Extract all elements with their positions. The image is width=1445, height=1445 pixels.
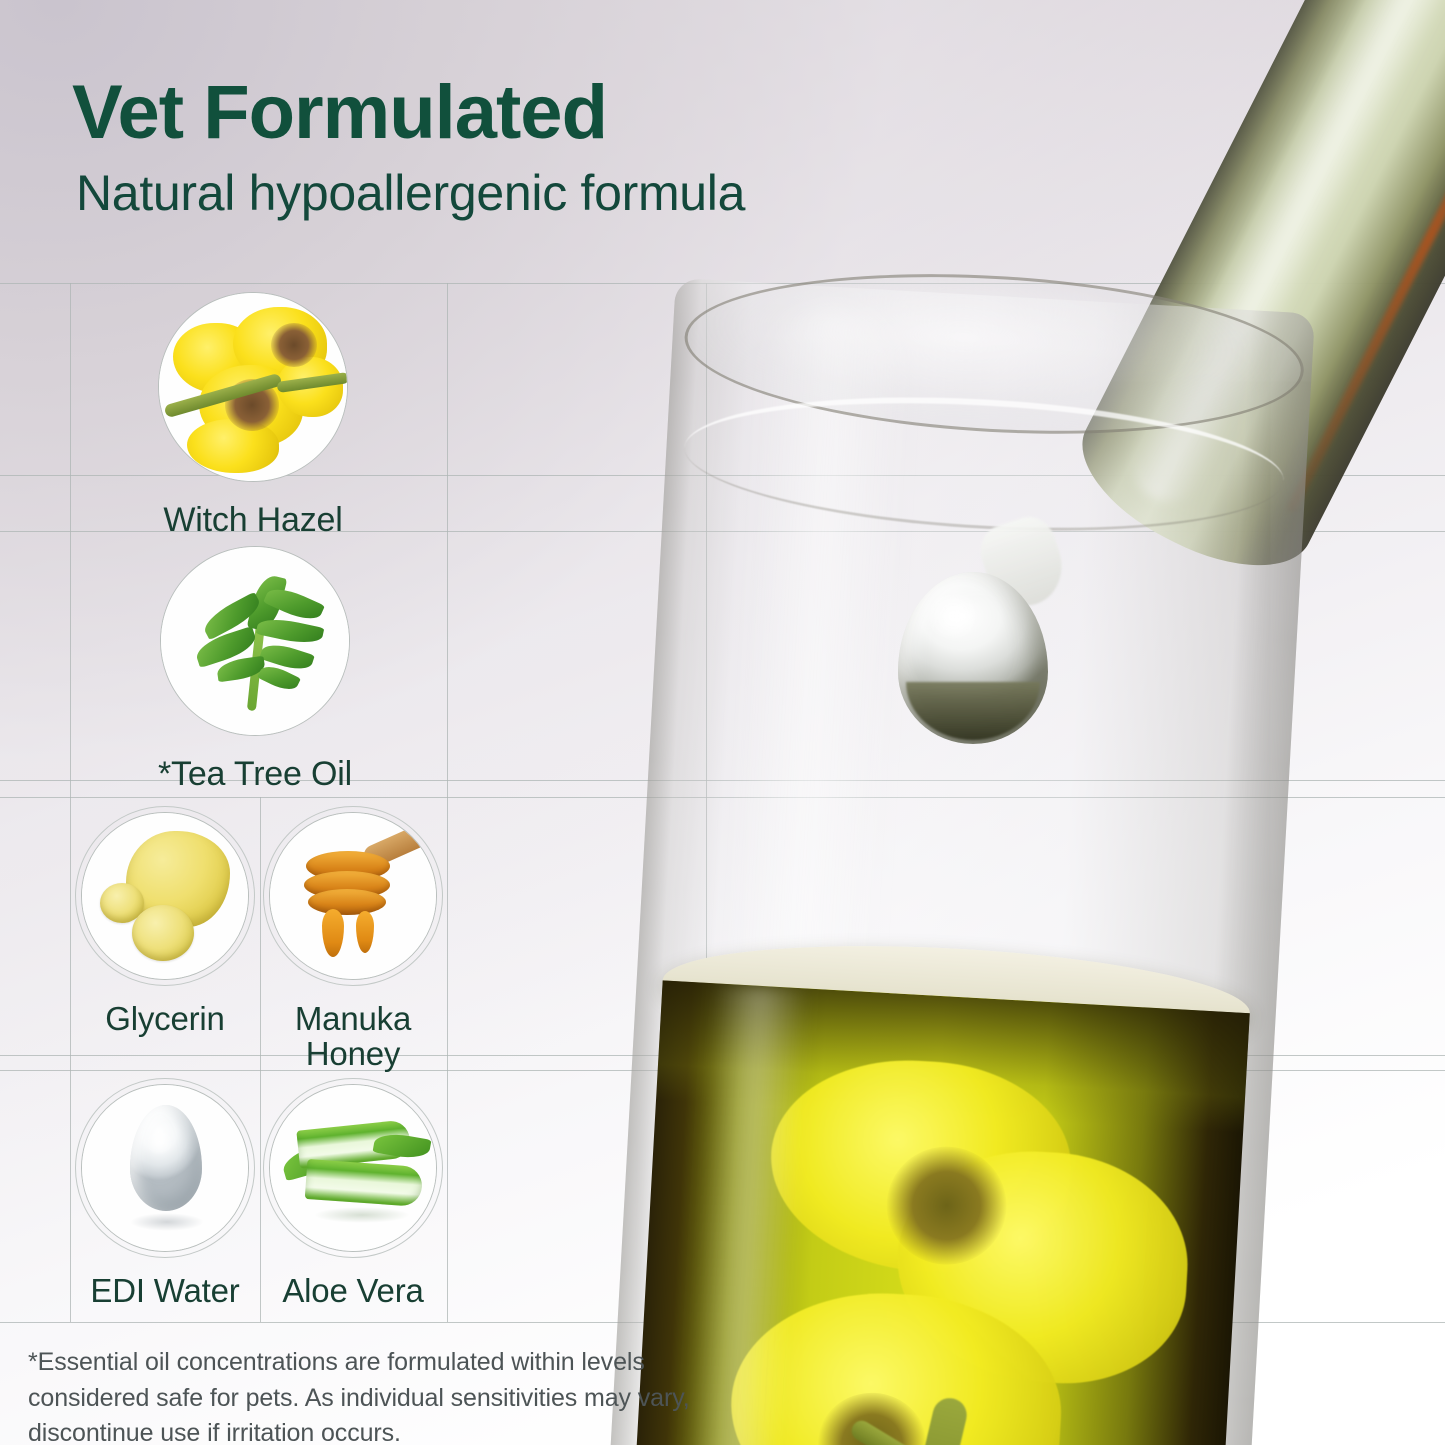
- tea-tree-sprig-icon: [160, 546, 350, 736]
- ingredient-label: *Tea Tree Oil: [158, 756, 352, 792]
- grid-line-v: [260, 797, 261, 1322]
- ingredient-manuka-honey: Manuka Honey: [263, 806, 443, 1072]
- pipette-icon: [1059, 0, 1445, 597]
- ingredient-label: Glycerin: [105, 1002, 224, 1037]
- ingredient-glycerin: Glycerin: [75, 806, 255, 1037]
- ingredient-edi-water: EDI Water: [75, 1078, 255, 1309]
- grid-line-h: [0, 797, 1445, 798]
- oil-droplet-icon: [898, 572, 1048, 744]
- ingredient-label: Witch Hazel: [163, 502, 342, 538]
- aloe-vera-slices-icon: [269, 1084, 437, 1252]
- test-tube-icon: [608, 232, 1317, 1445]
- page-title: Vet Formulated: [72, 74, 972, 152]
- witch-hazel-flower-icon: [158, 292, 348, 482]
- water-droplet-icon: [81, 1084, 249, 1252]
- ingredient-label: EDI Water: [90, 1274, 239, 1309]
- droplet-neck: [974, 510, 1073, 615]
- ingredient-tea-tree-oil: *Tea Tree Oil: [158, 546, 352, 792]
- ingredient-witch-hazel: Witch Hazel: [158, 292, 348, 538]
- oil-column: [631, 980, 1249, 1445]
- grid-line-h: [0, 1322, 1445, 1323]
- grid-line-h: [0, 1070, 1445, 1071]
- oil-surface: [660, 932, 1252, 1061]
- glycerin-droplets-icon: [81, 812, 249, 980]
- ingredient-aloe-vera: Aloe Vera: [263, 1078, 443, 1309]
- ingredient-label: Manuka Honey: [295, 1002, 411, 1072]
- product-infographic: Vet Formulated Natural hypoallergenic fo…: [0, 0, 1445, 1445]
- page-subtitle: Natural hypoallergenic formula: [76, 166, 972, 221]
- grid-line-v: [70, 283, 71, 1322]
- grid-line-h: [0, 283, 1445, 284]
- grid-line-v: [447, 283, 448, 1322]
- footnote-disclaimer: *Essential oil concentrations are formul…: [28, 1345, 718, 1445]
- grid-line-h: [0, 1055, 1445, 1056]
- headline-block: Vet Formulated Natural hypoallergenic fo…: [72, 74, 972, 221]
- ingredient-label: Aloe Vera: [282, 1274, 423, 1309]
- honey-dipper-icon: [269, 812, 437, 980]
- grid-line-v: [706, 283, 707, 1322]
